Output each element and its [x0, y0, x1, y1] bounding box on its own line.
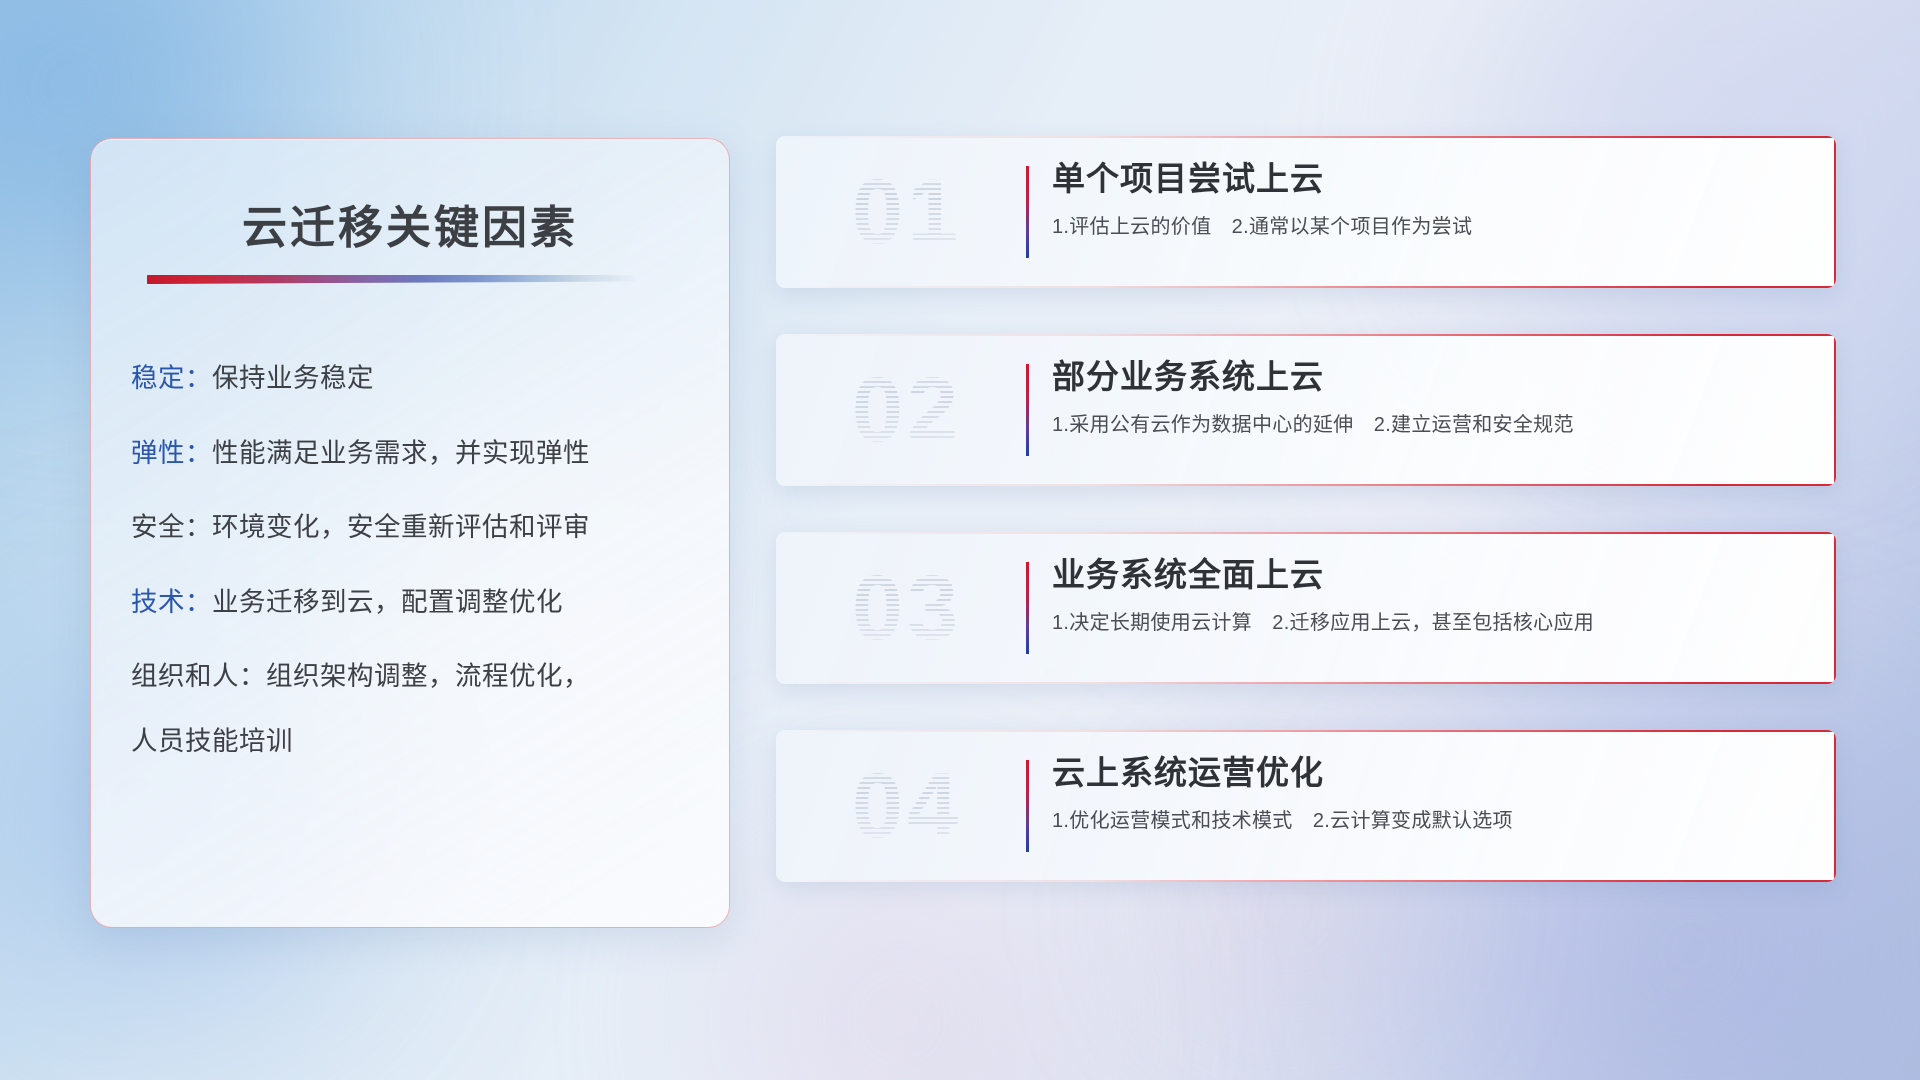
card-right-accent-line — [1834, 532, 1836, 684]
card-title: 部分业务系统上云 — [1052, 358, 1796, 396]
card-top-accent-line — [776, 136, 1836, 138]
card-body: 单个项目尝试上云1.评估上云的价值 2.通常以某个项目作为尝试 — [1052, 160, 1796, 239]
card-subtitle: 1.评估上云的价值 2.通常以某个项目作为尝试 — [1052, 215, 1796, 239]
factor-row: 弹性：性能满足业务需求，并实现弹性 — [131, 440, 701, 467]
stage-card-list: 01单个项目尝试上云1.评估上云的价值 2.通常以某个项目作为尝试02部分业务系… — [776, 136, 1836, 882]
card-bottom-accent-line — [776, 286, 1836, 288]
card-top-accent-line — [776, 334, 1836, 336]
factor-value: 保持业务稳定 — [212, 363, 374, 393]
card-subtitle: 1.采用公有云作为数据中心的延伸 2.建立运营和安全规范 — [1052, 413, 1796, 437]
factor-label: 组织和人： — [131, 661, 266, 691]
stage-card[interactable]: 04云上系统运营优化1.优化运营模式和技术模式 2.云计算变成默认选项 — [776, 730, 1836, 882]
card-step-number: 01 — [812, 148, 1002, 276]
card-divider-gradient — [1026, 166, 1029, 258]
factor-row: 稳定：保持业务稳定 — [131, 365, 701, 392]
factor-label: 稳定： — [131, 363, 212, 393]
card-title: 业务系统全面上云 — [1052, 556, 1796, 594]
card-bottom-accent-line — [776, 682, 1836, 684]
factor-label: 技术： — [131, 587, 212, 617]
key-factors-panel: 云迁移关键因素 稳定：保持业务稳定弹性：性能满足业务需求，并实现弹性安全：环境变… — [90, 138, 730, 928]
card-bottom-accent-line — [776, 484, 1836, 486]
card-step-number: 02 — [812, 346, 1002, 474]
factor-row: 组织和人：组织架构调整，流程优化， — [131, 663, 701, 690]
card-body: 云上系统运营优化1.优化运营模式和技术模式 2.云计算变成默认选项 — [1052, 754, 1796, 833]
card-right-accent-line — [1834, 136, 1836, 288]
stage-card[interactable]: 01单个项目尝试上云1.评估上云的价值 2.通常以某个项目作为尝试 — [776, 136, 1836, 288]
factor-value: 环境变化，安全重新评估和评审 — [212, 512, 590, 542]
card-right-accent-line — [1834, 730, 1836, 882]
card-step-number-text: 03 — [852, 556, 962, 661]
card-divider-gradient — [1026, 760, 1029, 852]
factor-value: 组织架构调整，流程优化， — [266, 661, 590, 691]
card-body: 部分业务系统上云1.采用公有云作为数据中心的延伸 2.建立运营和安全规范 — [1052, 358, 1796, 437]
card-subtitle: 1.优化运营模式和技术模式 2.云计算变成默认选项 — [1052, 809, 1796, 833]
factor-label: 弹性： — [131, 438, 212, 468]
factor-label: 安全： — [131, 512, 212, 542]
card-step-number-text: 02 — [852, 358, 962, 463]
card-title: 云上系统运营优化 — [1052, 754, 1796, 792]
factor-row: 技术：业务迁移到云，配置调整优化 — [131, 589, 701, 616]
panel-title: 云迁移关键因素 — [91, 191, 729, 256]
card-top-accent-line — [776, 532, 1836, 534]
card-right-accent-line — [1834, 334, 1836, 486]
factor-list: 稳定：保持业务稳定弹性：性能满足业务需求，并实现弹性安全：环境变化，安全重新评估… — [131, 365, 701, 754]
card-body: 业务系统全面上云1.决定长期使用云计算 2.迁移应用上云，甚至包括核心应用 — [1052, 556, 1796, 635]
card-bottom-accent-line — [776, 880, 1836, 882]
card-top-accent-line — [776, 730, 1836, 732]
card-step-number-text: 01 — [852, 160, 962, 265]
card-subtitle: 1.决定长期使用云计算 2.迁移应用上云，甚至包括核心应用 — [1052, 611, 1796, 635]
factor-value: 性能满足业务需求，并实现弹性 — [212, 438, 590, 468]
slide-stage: 云迁移关键因素 稳定：保持业务稳定弹性：性能满足业务需求，并实现弹性安全：环境变… — [0, 0, 1920, 1080]
stage-card[interactable]: 03业务系统全面上云1.决定长期使用云计算 2.迁移应用上云，甚至包括核心应用 — [776, 532, 1836, 684]
stage-card[interactable]: 02部分业务系统上云1.采用公有云作为数据中心的延伸 2.建立运营和安全规范 — [776, 334, 1836, 486]
card-step-number-text: 04 — [852, 754, 962, 859]
card-title: 单个项目尝试上云 — [1052, 160, 1796, 198]
title-underline-gradient — [147, 275, 637, 284]
card-divider-gradient — [1026, 562, 1029, 654]
factor-value: 人员技能培训 — [131, 726, 293, 756]
factor-value: 业务迁移到云，配置调整优化 — [212, 587, 563, 617]
card-step-number: 04 — [812, 742, 1002, 870]
factor-row: 安全：环境变化，安全重新评估和评审 — [131, 514, 701, 541]
factor-row: 人员技能培训 — [131, 728, 701, 755]
card-divider-gradient — [1026, 364, 1029, 456]
card-step-number: 03 — [812, 544, 1002, 672]
